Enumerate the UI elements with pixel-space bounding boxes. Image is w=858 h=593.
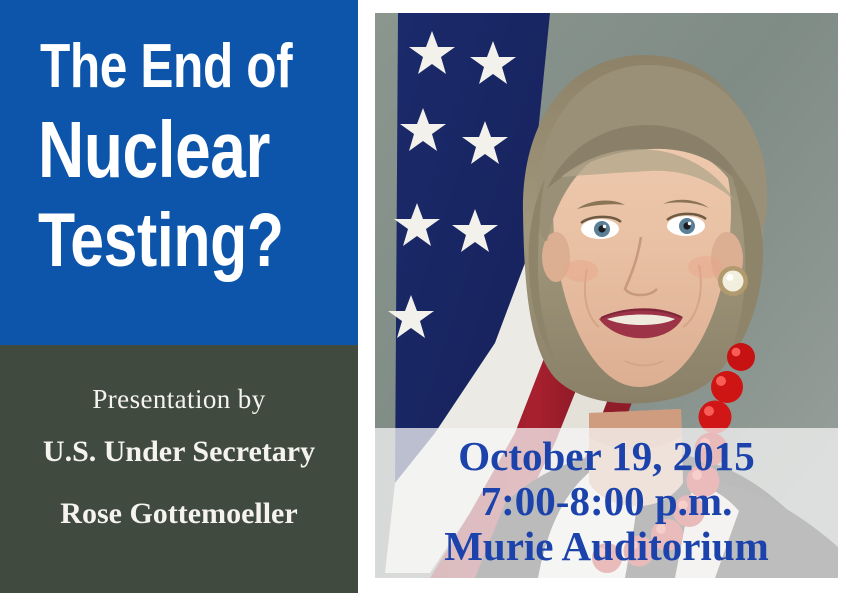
event-venue: Murie Auditorium xyxy=(375,524,838,569)
title-panel: The End of Nuclear Testing? xyxy=(0,0,358,345)
event-time: 7:00-8:00 p.m. xyxy=(375,479,838,524)
poster-title-line-1: The End of xyxy=(40,30,277,104)
left-column: The End of Nuclear Testing? Presentation… xyxy=(0,0,358,593)
event-details-overlay: October 19, 2015 7:00-8:00 p.m. Murie Au… xyxy=(375,428,838,578)
event-date: October 19, 2015 xyxy=(375,434,838,479)
presenter-intro-label: Presentation by xyxy=(0,377,358,421)
presenter-role-label: U.S. Under Secretary xyxy=(0,421,358,483)
poster-title-line-3: Testing? xyxy=(38,196,276,286)
poster-title-line-2: Nuclear xyxy=(38,104,276,196)
presenter-panel: Presentation by U.S. Under Secretary Ros… xyxy=(0,345,358,593)
presenter-name-label: Rose Gottemoeller xyxy=(0,483,358,545)
